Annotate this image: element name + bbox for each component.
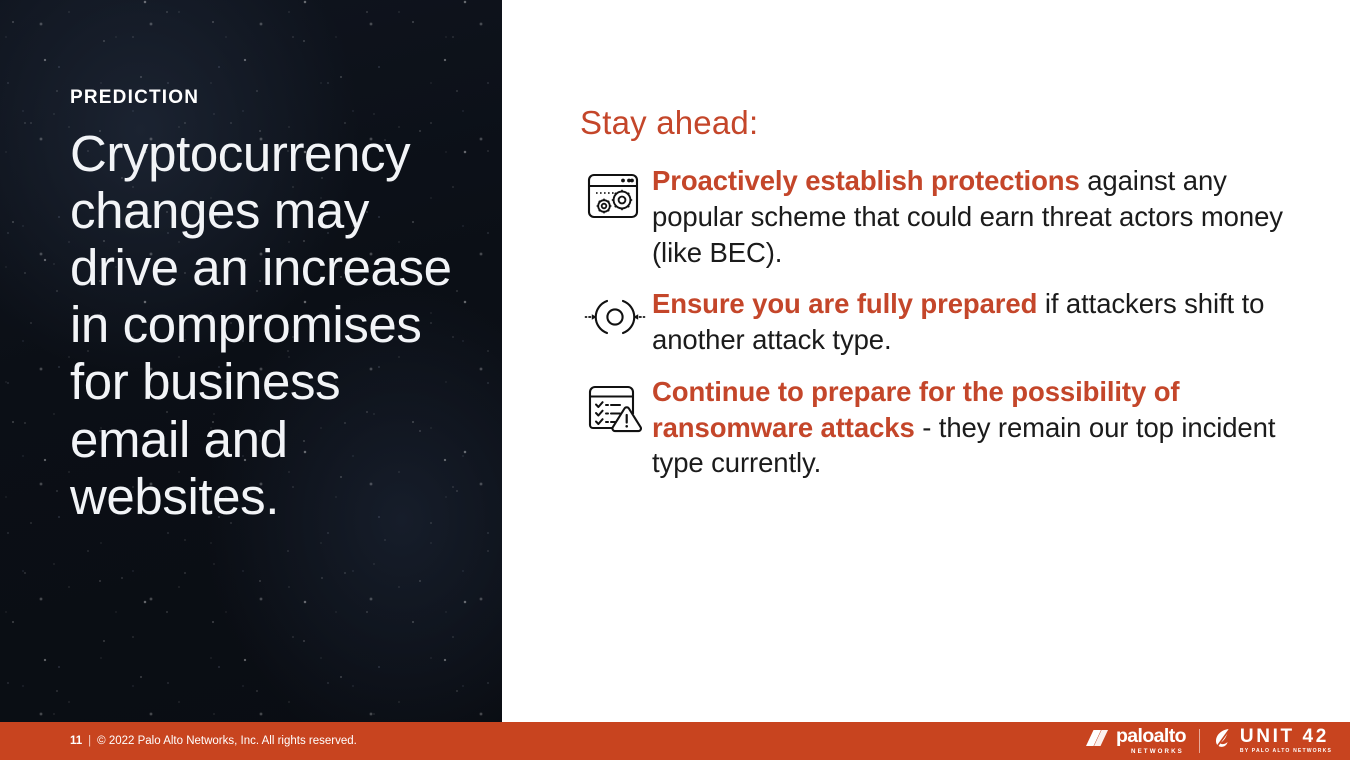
unit42-subword: BY PALO ALTO NETWORKS <box>1240 749 1332 754</box>
list-item: Continue to prepare for the possibility … <box>578 374 1318 481</box>
left-text-block: PREDICTION Cryptocurrency changes may dr… <box>70 88 470 525</box>
target-focus-icon <box>578 286 652 340</box>
paloalto-subword: NETWORKS <box>1131 749 1184 755</box>
unit42-wordmark: UNIT 42 BY PALO ALTO NETWORKS <box>1240 727 1332 754</box>
list-item-bold-lead: Proactively establish protections <box>652 165 1080 196</box>
page-number: 11 <box>70 735 82 747</box>
recommendations-list: Proactively establish protections agains… <box>578 163 1318 497</box>
slide: PREDICTION Cryptocurrency changes may dr… <box>0 0 1350 760</box>
slide-headline: Cryptocurrency changes may drive an incr… <box>70 125 470 525</box>
slide-footer: 11 | © 2022 Palo Alto Networks, Inc. All… <box>0 722 1350 760</box>
list-item: Proactively establish protections agains… <box>578 163 1318 270</box>
unit42-word: UNIT 42 <box>1240 727 1332 746</box>
paloalto-word: paloalto <box>1116 727 1186 747</box>
browser-gears-icon <box>578 163 652 223</box>
prediction-eyebrow-label: PREDICTION <box>70 88 470 107</box>
list-item-bold-lead: Ensure you are fully prepared <box>652 288 1037 319</box>
paloalto-logo: paloalto NETWORKS <box>1084 727 1186 755</box>
footer-logos: paloalto NETWORKS UNIT 42 BY PALO ALTO N… <box>1084 727 1332 755</box>
list-item-text: Ensure you are fully prepared if attacke… <box>652 286 1318 358</box>
left-dark-panel: PREDICTION Cryptocurrency changes may dr… <box>0 0 502 722</box>
copyright-text: © 2022 Palo Alto Networks, Inc. All righ… <box>97 735 357 747</box>
footer-left-group: 11 | © 2022 Palo Alto Networks, Inc. All… <box>70 735 357 747</box>
footer-separator: | <box>88 735 91 747</box>
stay-ahead-heading: Stay ahead: <box>580 106 758 139</box>
footer-logo-divider <box>1199 729 1200 753</box>
unit42-logo: UNIT 42 BY PALO ALTO NETWORKS <box>1213 727 1332 754</box>
paloalto-mark-icon <box>1084 729 1110 752</box>
list-item-text: Proactively establish protections agains… <box>652 163 1318 270</box>
list-item: Ensure you are fully prepared if attacke… <box>578 286 1318 358</box>
list-item-text: Continue to prepare for the possibility … <box>652 374 1318 481</box>
checklist-warning-icon <box>578 374 652 434</box>
paloalto-wordmark: paloalto NETWORKS <box>1116 727 1186 755</box>
unit42-mark-icon <box>1213 727 1233 754</box>
right-content-panel: Stay ahead: <box>502 0 1350 722</box>
